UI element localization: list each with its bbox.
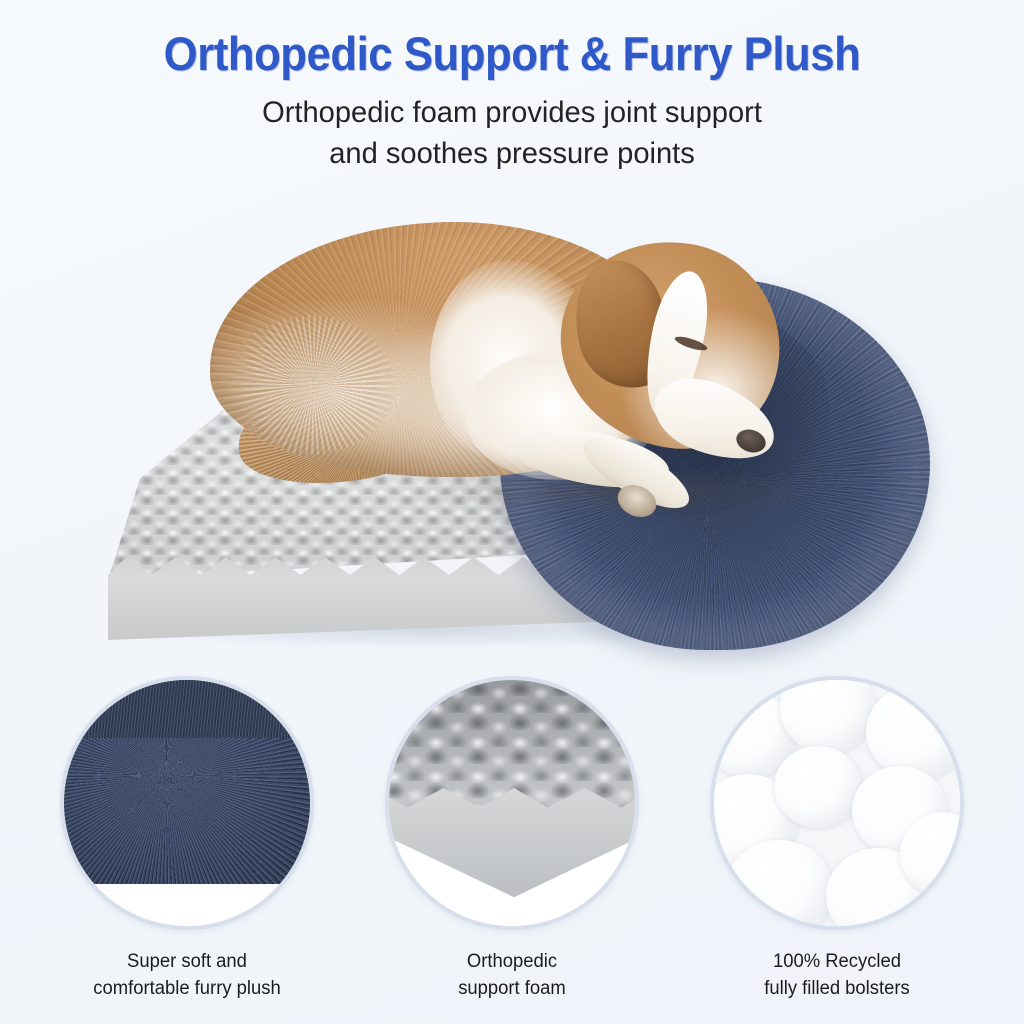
hero-product-image	[0, 200, 1024, 670]
feature-caption: Super soft and comfortable furry plush	[50, 948, 324, 1002]
product-infographic-page: Orthopedic Support & Furry Plush Orthope…	[0, 0, 1024, 1024]
feature-caption-line-2: comfortable furry plush	[50, 975, 324, 1002]
plush-top-band	[60, 676, 314, 738]
feature-caption-line-1: 100% Recycled	[700, 948, 974, 975]
subtitle-line-2: and soothes pressure points	[15, 133, 1008, 174]
feature-caption-line-2: fully filled bolsters	[700, 975, 974, 1002]
fiber-ball	[724, 840, 834, 930]
plush-swatch-circle	[60, 676, 314, 930]
foam-swatch-circle	[385, 676, 639, 930]
feature-highlights: Super soft and comfortable furry plush O…	[0, 676, 1024, 1024]
feature-item-foam: Orthopedic support foam	[371, 676, 653, 1002]
fiberfill-balls-icon	[714, 680, 960, 926]
feature-item-plush: Super soft and comfortable furry plush	[46, 676, 328, 1002]
page-title: Orthopedic Support & Furry Plush	[36, 26, 988, 81]
feature-caption-line-2: support foam	[375, 975, 649, 1002]
fiber-ball	[866, 684, 964, 780]
dog-hip-fur-swirl	[225, 315, 395, 455]
feature-caption-line-1: Super soft and	[50, 948, 324, 975]
feature-caption-line-1: Orthopedic	[375, 948, 649, 975]
feature-item-fill: 100% Recycled fully filled bolsters	[696, 676, 978, 1002]
feature-caption: 100% Recycled fully filled bolsters	[700, 948, 974, 1002]
feature-caption: Orthopedic support foam	[375, 948, 649, 1002]
subtitle-line-1: Orthopedic foam provides joint support	[15, 92, 1008, 133]
egg-crate-foam-icon	[389, 680, 635, 926]
plush-fabric-icon	[64, 680, 310, 926]
sleeping-dog	[180, 200, 820, 560]
page-subtitle: Orthopedic foam provides joint support a…	[15, 92, 1008, 174]
fiberfill-swatch-circle	[710, 676, 964, 930]
fiber-ball	[774, 746, 862, 828]
